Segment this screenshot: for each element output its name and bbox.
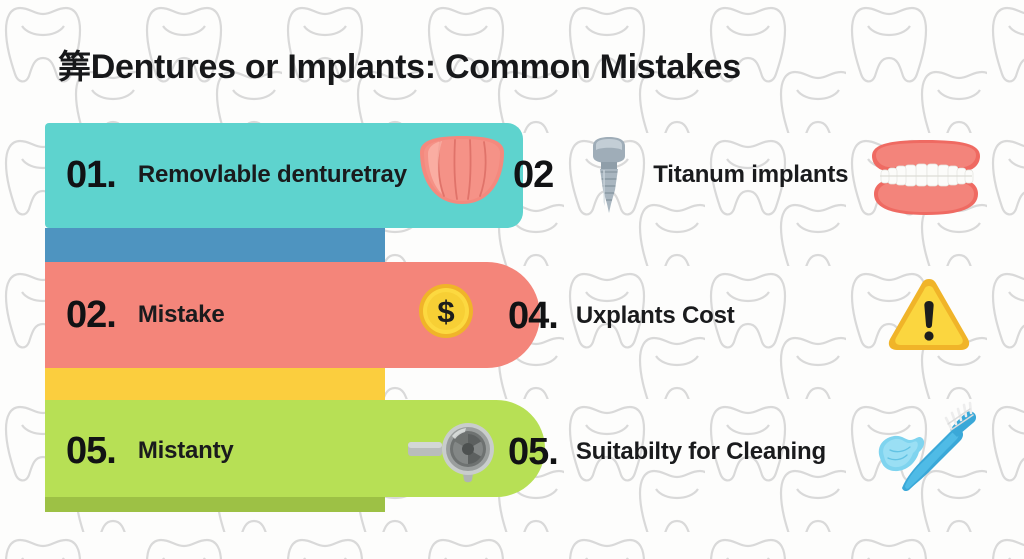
row-2-right-content[interactable]: 04. Uxplants Cost — [508, 288, 735, 344]
infographic-canvas: 筭Dentures or Implants: Common Mistakes 0… — [0, 0, 1024, 559]
implant-screw-icon — [583, 136, 635, 216]
page-title: 筭Dentures or Implants: Common Mistakes — [58, 40, 741, 88]
denture-tray-icon — [412, 136, 512, 208]
row-2-left-label: Mistake — [138, 301, 225, 329]
svg-text:$: $ — [437, 294, 454, 329]
row-3-right-label: Suitabilty for Cleaning — [576, 438, 826, 466]
row-2-right-number: 04. — [508, 297, 558, 335]
row-2-right-label: Uxplants Cost — [576, 302, 735, 330]
band-footer-darkgreen — [45, 497, 385, 512]
row-3-left-content[interactable]: 05. Mistanty — [66, 423, 234, 479]
title-glyph: 筭 — [58, 47, 91, 86]
dollar-coin-icon: $ — [418, 283, 474, 339]
row-3-right-number: 05. — [508, 433, 558, 471]
row-1-left-number: 01. — [66, 156, 116, 194]
full-dentures-icon — [866, 138, 986, 218]
band-divider-yellow — [45, 368, 385, 400]
row-3-right-content[interactable]: 05. Suitabilty for Cleaning — [508, 424, 826, 480]
row-1-left-content[interactable]: 01. Removlable denturetray — [66, 147, 407, 203]
band-divider-blue — [45, 228, 385, 262]
row-2-left-number: 02. — [66, 296, 116, 334]
row-2-left-content[interactable]: 02. Mistake — [66, 287, 224, 343]
row-1-right-number: 02 — [513, 156, 553, 194]
toothbrush-paste-icon — [872, 400, 984, 492]
warning-triangle-icon — [886, 276, 972, 354]
row-1-right-content[interactable]: 02 Titanum implants — [513, 147, 848, 203]
valve-gear-icon — [408, 418, 502, 484]
row-3-left-number: 05. — [66, 432, 116, 470]
row-1-left-label: Removlable denturetray — [138, 161, 407, 189]
row-3-left-label: Mistanty — [138, 437, 234, 465]
title-text: Dentures or Implants: Common Mistakes — [91, 48, 741, 86]
row-1-right-label: Titanum implants — [653, 161, 848, 189]
